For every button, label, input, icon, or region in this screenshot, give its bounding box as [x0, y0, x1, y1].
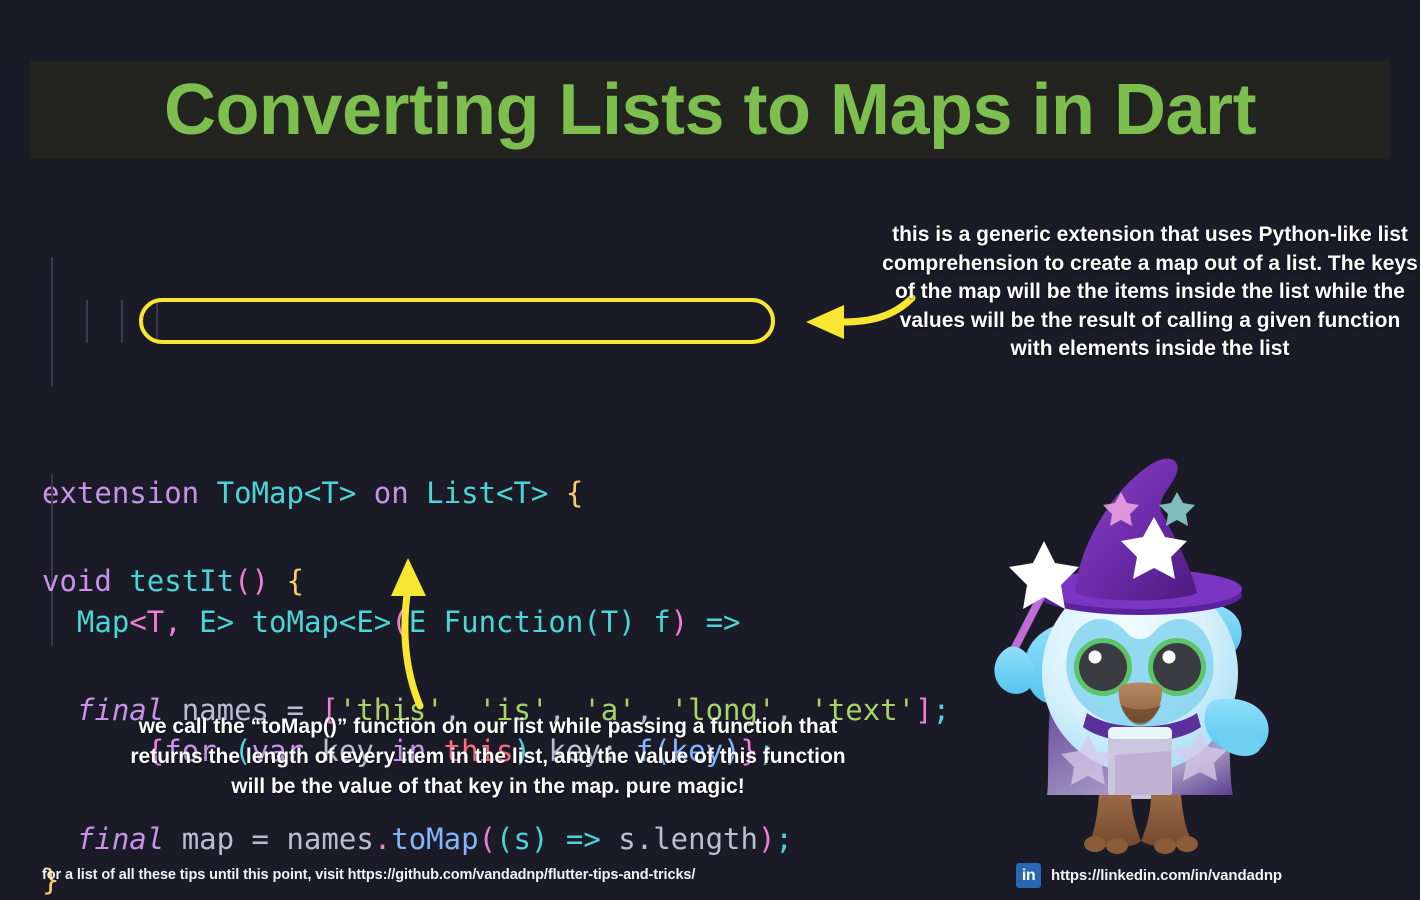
code-token: map [164, 822, 251, 856]
code-token: names [269, 822, 374, 856]
code-token: = [252, 822, 269, 856]
code-token [42, 822, 77, 856]
code-token: () [234, 564, 269, 598]
code-token: { [286, 564, 303, 598]
code-token [42, 693, 77, 727]
code-token: s.length [601, 822, 758, 856]
code-token: toMap [391, 822, 478, 856]
code-line: void testIt() { [42, 560, 950, 603]
footer-github-text[interactable]: for a list of all these tips until this … [42, 867, 695, 883]
title-bar: Converting Lists to Maps in Dart [30, 61, 1390, 159]
footer-linkedin[interactable]: in https://linkedin.com/in/vandadnp [1016, 863, 1282, 888]
code-token [548, 822, 565, 856]
code-token: final [77, 822, 164, 856]
code-token [269, 564, 286, 598]
indent-guide [156, 300, 158, 343]
annotation-bottom: we call the “toMap()” function on our li… [118, 712, 858, 802]
annotation-top: this is a generic extension that uses Py… [880, 221, 1420, 364]
wizard-owl-mascot [975, 455, 1305, 855]
code-token: => [566, 822, 601, 856]
page-title: Converting Lists to Maps in Dart [164, 74, 1256, 146]
up-arrow-icon [382, 556, 452, 711]
indent-guide [51, 257, 53, 386]
code-token: (s) [496, 822, 548, 856]
footer-linkedin-url[interactable]: https://linkedin.com/in/vandadnp [1051, 867, 1282, 884]
slide-root: Converting Lists to Maps in Dart extensi… [0, 0, 1420, 900]
code-token: ] [915, 693, 932, 727]
code-block-testit: void testIt() { final names = ['this', '… [42, 431, 950, 900]
indent-guide [86, 300, 88, 343]
code-token: ; [775, 822, 792, 856]
indent-guide [121, 300, 123, 343]
code-token: ; [933, 693, 950, 727]
code-token: void [42, 564, 112, 598]
code-token: ( [479, 822, 496, 856]
code-token: . [374, 822, 391, 856]
linkedin-icon[interactable]: in [1016, 863, 1041, 888]
code-token: ) [758, 822, 775, 856]
code-token: testIt [129, 564, 234, 598]
code-line: final map = names.toMap((s) => s.length)… [42, 818, 950, 861]
code-token [112, 564, 129, 598]
